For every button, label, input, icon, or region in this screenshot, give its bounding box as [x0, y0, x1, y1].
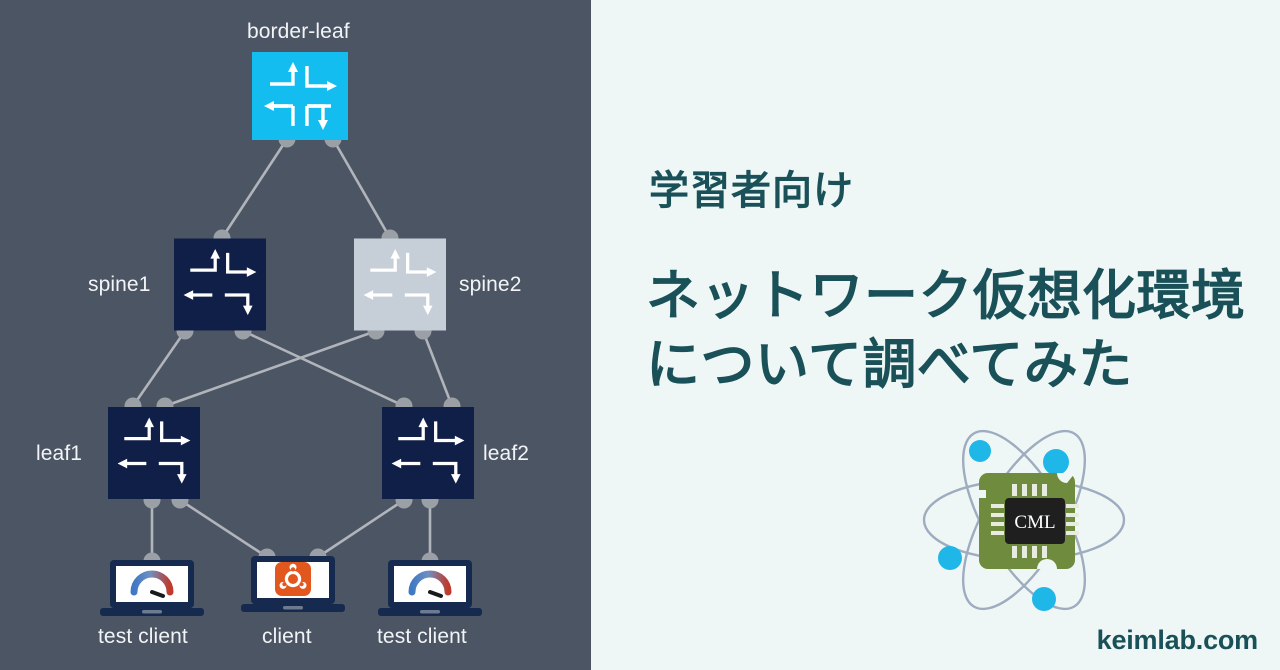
- node-label-test-client-2: test client: [377, 625, 467, 649]
- switch-icon-cyan: [252, 52, 348, 140]
- switch-icon-dark: [174, 238, 266, 331]
- node-label-border-leaf: border-leaf: [247, 20, 350, 44]
- kicker-text: 学習者向け: [649, 158, 854, 216]
- laptop-test-client-1[interactable]: [100, 558, 204, 625]
- node-label-test-client-1: test client: [98, 625, 188, 649]
- headline-line-1: ネットワーク仮想化環境: [646, 262, 1246, 331]
- node-label-leaf2: leaf2: [483, 442, 529, 466]
- port-dots: [125, 131, 461, 570]
- node-label-spine1: spine1: [88, 273, 150, 297]
- laptop-ubuntu-icon: [241, 554, 345, 616]
- chip-label: CML: [1014, 512, 1055, 533]
- laptop-gauge-icon: [100, 558, 204, 620]
- switch-icon-dark: [382, 406, 474, 500]
- switch-icon-light: [354, 238, 446, 331]
- switch-leaf1[interactable]: [108, 406, 200, 500]
- laptop-test-client-2[interactable]: [378, 558, 482, 625]
- switch-icon-dark: [108, 406, 200, 500]
- switch-spine1[interactable]: [174, 238, 266, 331]
- network-topology-panel: border-leaf: [0, 0, 591, 670]
- node-label-spine2: spine2: [459, 273, 521, 297]
- node-label-leaf1: leaf1: [36, 442, 82, 466]
- chip-body: CML: [979, 473, 1079, 569]
- brand-watermark: keimlab.com: [1097, 625, 1258, 656]
- cml-atom-chip-logo: CML: [917, 418, 1132, 623]
- switch-leaf2[interactable]: [382, 406, 474, 500]
- title-panel: 学習者向け ネットワーク仮想化環境 について調べてみた: [591, 0, 1280, 670]
- headline: ネットワーク仮想化環境 について調べてみた: [646, 262, 1246, 399]
- laptop-client[interactable]: [241, 554, 345, 621]
- switch-border-leaf[interactable]: [252, 52, 348, 140]
- node-label-client: client: [262, 625, 312, 649]
- laptop-gauge-icon: [378, 558, 482, 620]
- switch-spine2[interactable]: [354, 238, 446, 331]
- headline-line-2: について調べてみた: [646, 331, 1246, 400]
- slide-canvas: border-leaf: [0, 0, 1280, 670]
